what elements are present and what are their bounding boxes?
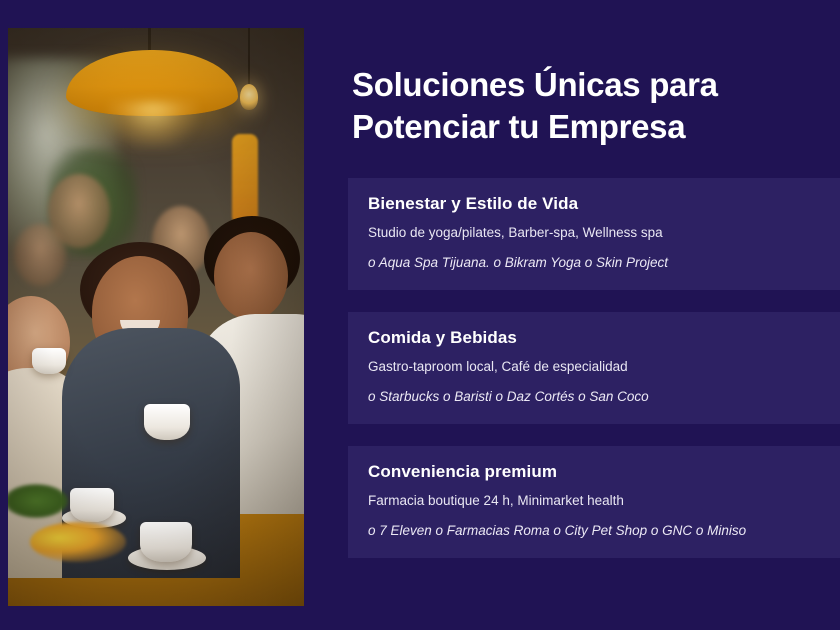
card-title: Bienestar y Estilo de Vida [368, 194, 840, 214]
category-card-wellness[interactable]: Bienestar y Estilo de Vida Studio de yog… [348, 178, 840, 290]
card-description: Studio de yoga/pilates, Barber-spa, Well… [368, 224, 840, 242]
page-title-line-2: Potenciar tu Empresa [352, 106, 840, 148]
category-card-list: Bienestar y Estilo de Vida Studio de yog… [348, 178, 840, 580]
photo-frame [8, 28, 304, 606]
content-column: Soluciones Únicas para Potenciar tu Empr… [348, 0, 840, 630]
photo-vignette [8, 28, 304, 606]
card-brands: o Starbucks o Baristi o Daz Cortés o San… [368, 388, 840, 406]
slide-root: Soluciones Únicas para Potenciar tu Empr… [0, 0, 840, 630]
card-title: Comida y Bebidas [368, 328, 840, 348]
card-description: Gastro-taproom local, Café de especialid… [368, 358, 840, 376]
category-card-convenience[interactable]: Conveniencia premium Farmacia boutique 2… [348, 446, 840, 558]
card-title: Conveniencia premium [368, 462, 840, 482]
category-card-food[interactable]: Comida y Bebidas Gastro-taproom local, C… [348, 312, 840, 424]
card-brands: o Aqua Spa Tijuana. o Bikram Yoga o Skin… [368, 254, 840, 272]
card-brands: o 7 Eleven o Farmacias Roma o City Pet S… [368, 522, 840, 540]
cafe-people-photo [8, 28, 304, 606]
page-title-line-1: Soluciones Únicas para [352, 64, 840, 106]
page-title: Soluciones Únicas para Potenciar tu Empr… [352, 64, 840, 148]
card-description: Farmacia boutique 24 h, Minimarket healt… [368, 492, 840, 510]
